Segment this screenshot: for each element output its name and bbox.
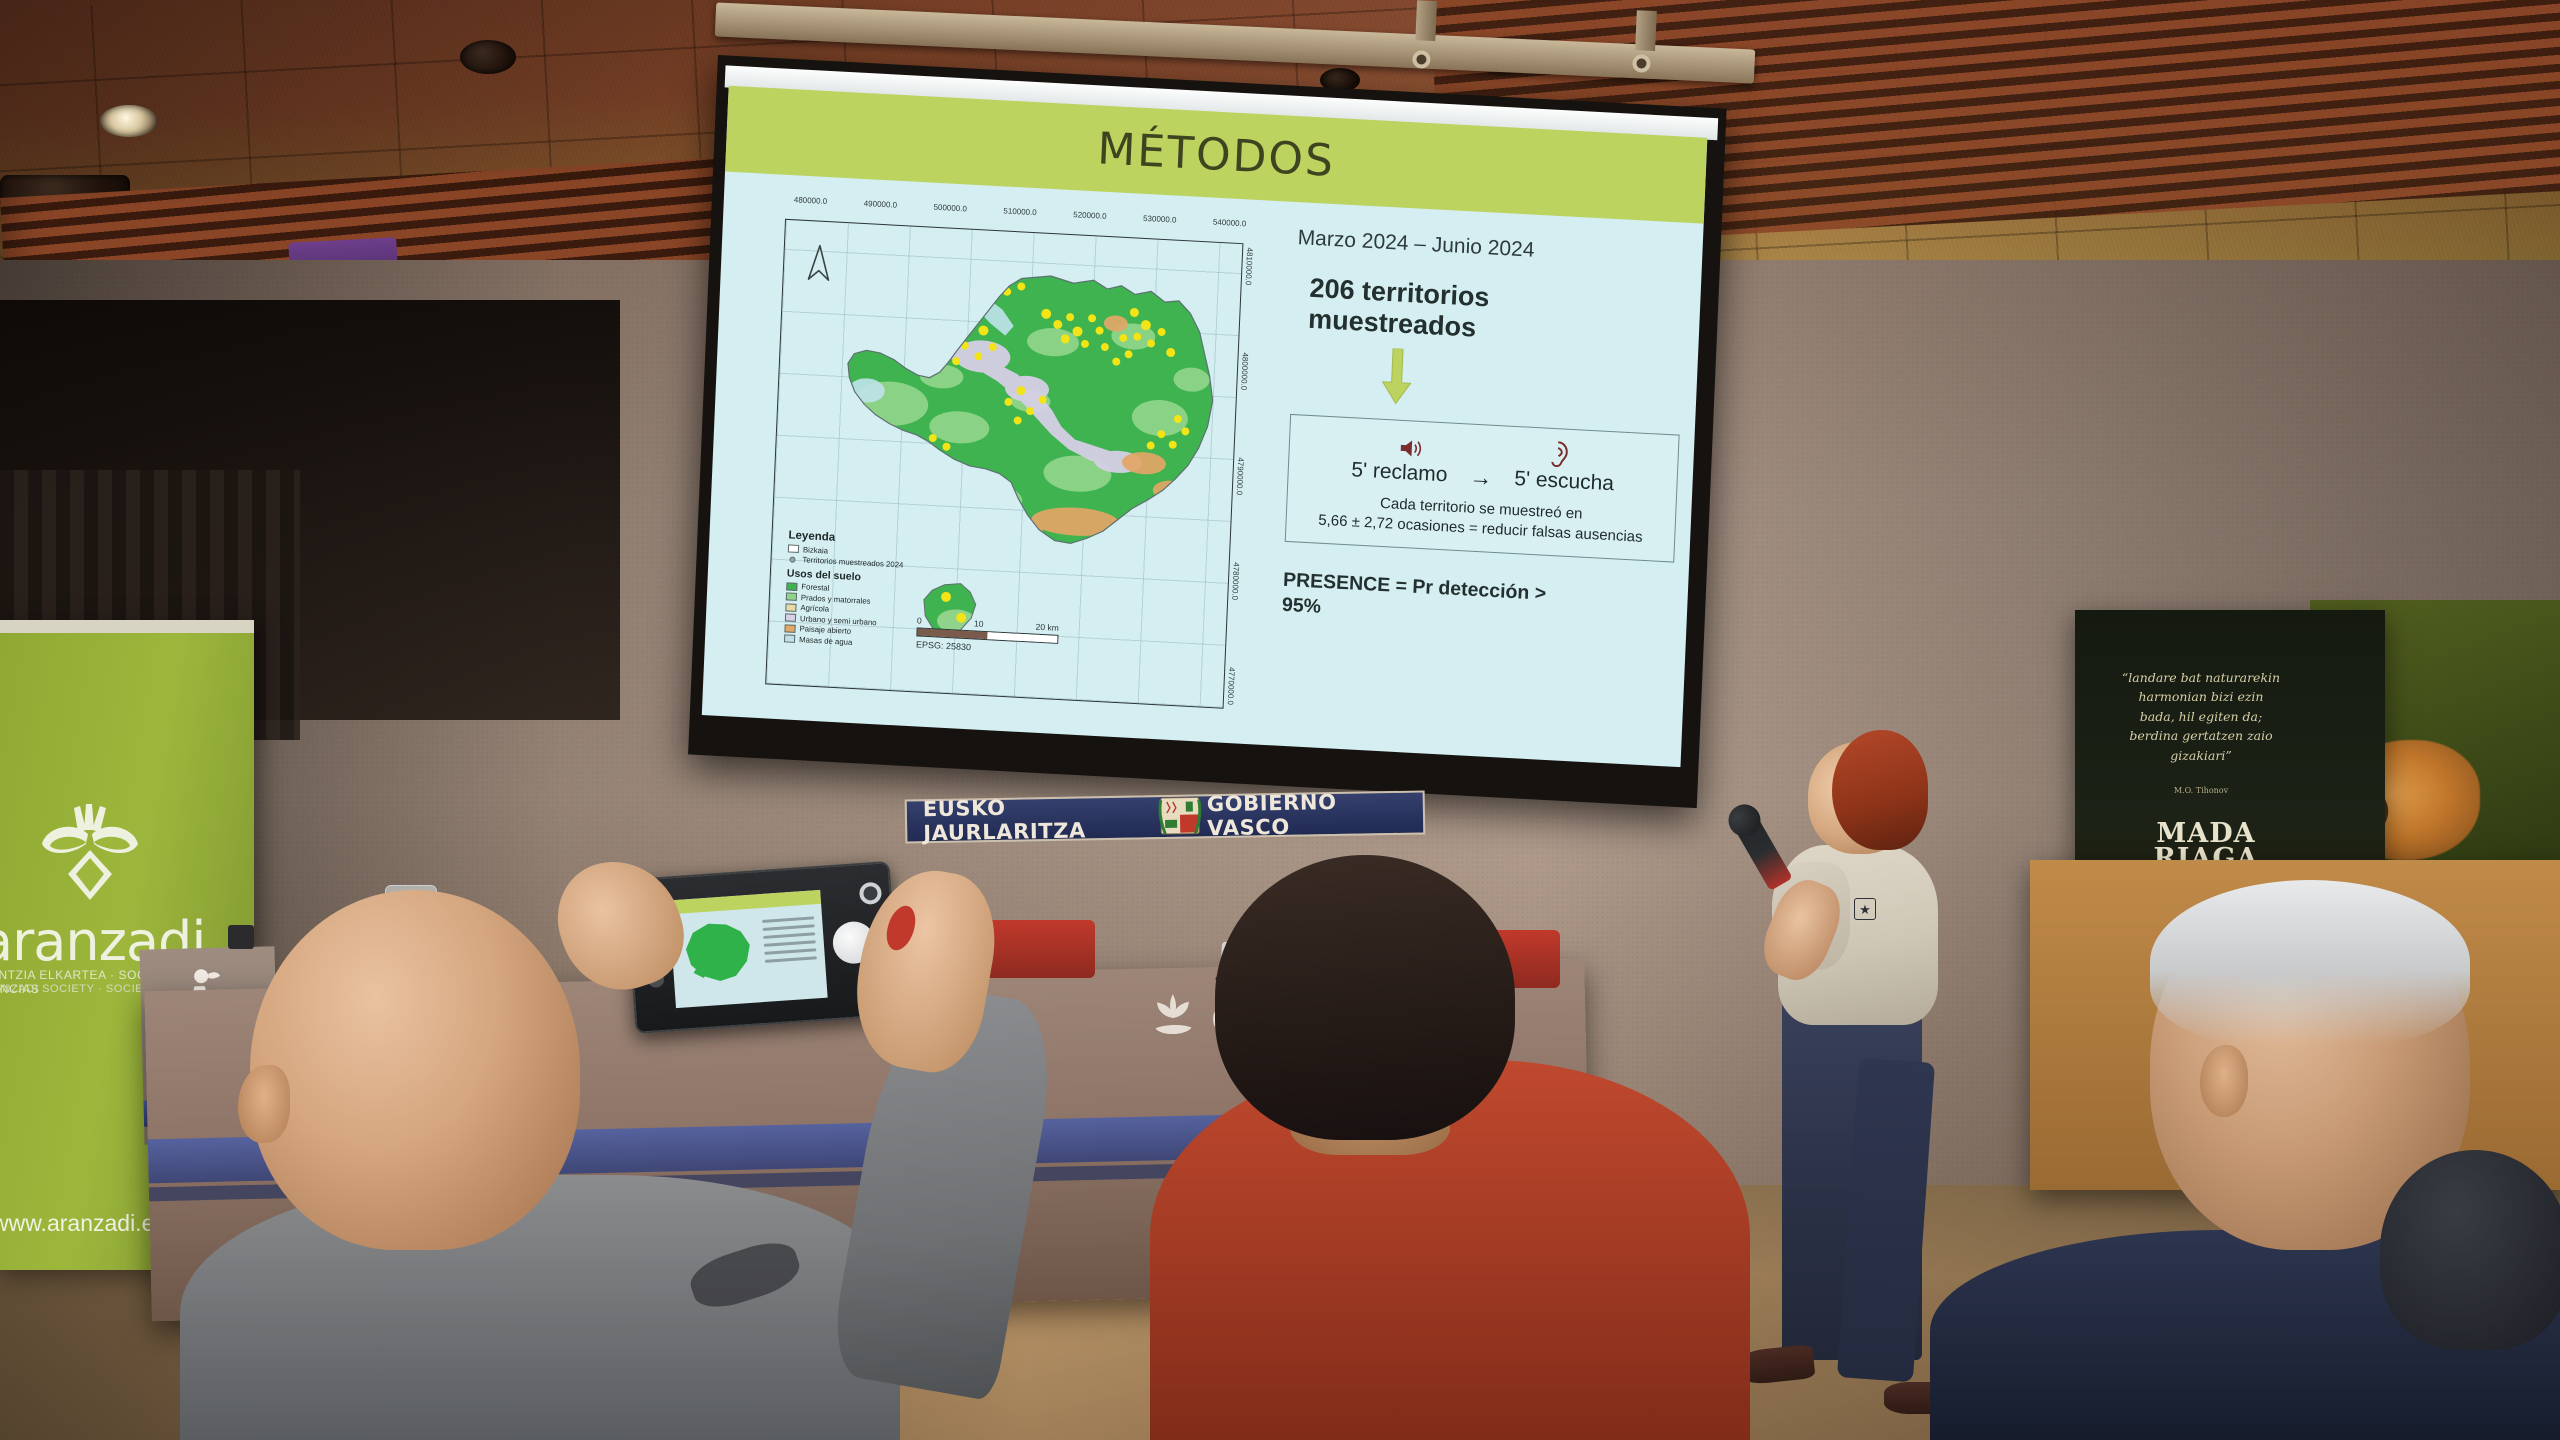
speaker-hair bbox=[1832, 730, 1928, 850]
sign-spanish-text: GOBIERNO VASCO bbox=[1207, 789, 1408, 840]
aranzadi-url: www.aranzadi.eu bbox=[0, 1210, 167, 1237]
presence-statement: PRESENCE = Pr detección > 95% bbox=[1281, 568, 1673, 639]
gobierno-vasco-sign: EUSKO JAURLARITZA GOBIERNO VASCO bbox=[905, 790, 1426, 843]
quote-line: “landare bat naturarekin bbox=[2101, 668, 2301, 687]
conference-room-photo: MÉTODOS 480000.0 490000.0 500000.0 51000… bbox=[0, 0, 2560, 1440]
rail-eye-icon bbox=[1632, 54, 1651, 73]
viewfinder-map-preview bbox=[678, 916, 761, 989]
viewfinder-text-preview bbox=[762, 916, 817, 968]
legend-swatch-paisaje bbox=[784, 624, 795, 633]
map-y-tick: 4790000.0 bbox=[1235, 457, 1246, 495]
legend-label: Forestal bbox=[801, 582, 830, 592]
map-y-tick: 4770000.0 bbox=[1226, 667, 1237, 705]
audience-right-hair bbox=[2150, 880, 2470, 1045]
map-x-tick: 500000.0 bbox=[933, 203, 967, 227]
quote-line: bada, hil egiten da; bbox=[2101, 707, 2301, 726]
slide-right-panel: Marzo 2024 – Junio 2024 206 territorios … bbox=[1281, 226, 1687, 639]
map-y-tick: 4780000.0 bbox=[1230, 562, 1241, 600]
basque-coat-of-arms-icon bbox=[1157, 795, 1204, 838]
aranzadi-clover-icon bbox=[34, 798, 154, 908]
map-y-tick: 4800000.0 bbox=[1239, 352, 1250, 390]
legend-label: Bizkaia bbox=[803, 545, 828, 555]
rail-eye-icon bbox=[1412, 50, 1431, 69]
poster-quote: “landare bat naturarekin harmonian bizi … bbox=[2101, 668, 2301, 765]
legend-label: Agrícola bbox=[800, 603, 829, 614]
legend-swatch-urbano bbox=[785, 613, 796, 622]
leaf-plant-icon bbox=[1145, 989, 1202, 1046]
map-x-tick: 510000.0 bbox=[1003, 206, 1037, 230]
sign-basque-text: EUSKO JAURLARITZA bbox=[923, 793, 1154, 845]
table-device bbox=[228, 925, 254, 949]
madariaga-poster: “landare bat naturarekin harmonian bizi … bbox=[2075, 610, 2385, 900]
legend-swatch-agua bbox=[784, 634, 795, 643]
audience-front-left-ear bbox=[238, 1065, 290, 1143]
quote-line: gizakiari” bbox=[2101, 746, 2301, 765]
quote-line: harmonian bizi ezin bbox=[2101, 687, 2301, 706]
poster-quote-author: M.O. Tihonov bbox=[2101, 786, 2301, 795]
down-arrow-icon bbox=[1381, 347, 1413, 405]
callout-arrow-icon: → bbox=[1469, 463, 1493, 491]
audience-far-right-head bbox=[2380, 1150, 2560, 1350]
scalebar-tick: 10 bbox=[974, 618, 984, 628]
legend-swatch-bizkaia bbox=[788, 544, 799, 553]
ceiling-light-icon bbox=[100, 105, 158, 137]
map-x-tick: 540000.0 bbox=[1212, 218, 1246, 242]
quote-line: berdina gertatzen zaio bbox=[2101, 726, 2301, 745]
banner-top-edge bbox=[0, 620, 254, 633]
legend-swatch-forestal bbox=[786, 582, 797, 591]
scalebar-tick: 20 km bbox=[1035, 622, 1059, 633]
viewfinder-title-band bbox=[668, 890, 821, 915]
audience-front-left-head bbox=[250, 890, 580, 1250]
map-panel: 480000.0 490000.0 500000.0 510000.0 5200… bbox=[725, 187, 1271, 724]
map-y-tick: 4810000.0 bbox=[1244, 247, 1255, 285]
rail-mount bbox=[1635, 10, 1657, 51]
rail-mount bbox=[1415, 0, 1437, 41]
projection-screen: MÉTODOS 480000.0 490000.0 500000.0 51000… bbox=[688, 55, 1727, 808]
presentation-slide: MÉTODOS 480000.0 490000.0 500000.0 51000… bbox=[702, 86, 1708, 768]
ceiling-light-icon bbox=[460, 40, 516, 74]
scalebar-tick: 0 bbox=[917, 615, 922, 625]
audience-center-head bbox=[1215, 855, 1515, 1140]
callout-left-label: 5' reclamo bbox=[1351, 458, 1448, 487]
study-dates: Marzo 2024 – Junio 2024 bbox=[1297, 226, 1687, 271]
map-x-tick: 490000.0 bbox=[863, 199, 897, 223]
legend-swatch-prados bbox=[786, 592, 797, 601]
red-chair bbox=[985, 920, 1095, 978]
legend-swatch-territorios bbox=[789, 556, 795, 562]
camera-viewfinder bbox=[668, 890, 827, 1008]
camera-mode-icon[interactable] bbox=[859, 882, 882, 905]
legend-swatch-agricola bbox=[785, 603, 796, 612]
loudspeaker-icon bbox=[1398, 436, 1425, 459]
map-frame: Leyenda Bizkaia Territorios muestreados … bbox=[765, 219, 1243, 709]
callout-right-label: 5' escucha bbox=[1514, 467, 1615, 496]
star-badge-icon: ★ bbox=[1854, 898, 1876, 920]
audience-front-left-body bbox=[180, 1175, 900, 1440]
audience-right-ear bbox=[2200, 1045, 2248, 1117]
map-x-tick: 530000.0 bbox=[1142, 214, 1176, 238]
map-x-tick: 480000.0 bbox=[793, 195, 827, 219]
sampling-protocol-callout: 5' reclamo → 5' escucha Cada territorio … bbox=[1285, 414, 1680, 563]
legend-label: Masas de agua bbox=[799, 635, 853, 647]
slide-title: MÉTODOS bbox=[1096, 123, 1336, 187]
north-arrow-icon bbox=[805, 243, 833, 284]
map-x-tick: 520000.0 bbox=[1073, 210, 1107, 234]
map-legend: Leyenda Bizkaia Territorios muestreados … bbox=[784, 529, 921, 651]
ear-listen-icon bbox=[1546, 440, 1569, 467]
